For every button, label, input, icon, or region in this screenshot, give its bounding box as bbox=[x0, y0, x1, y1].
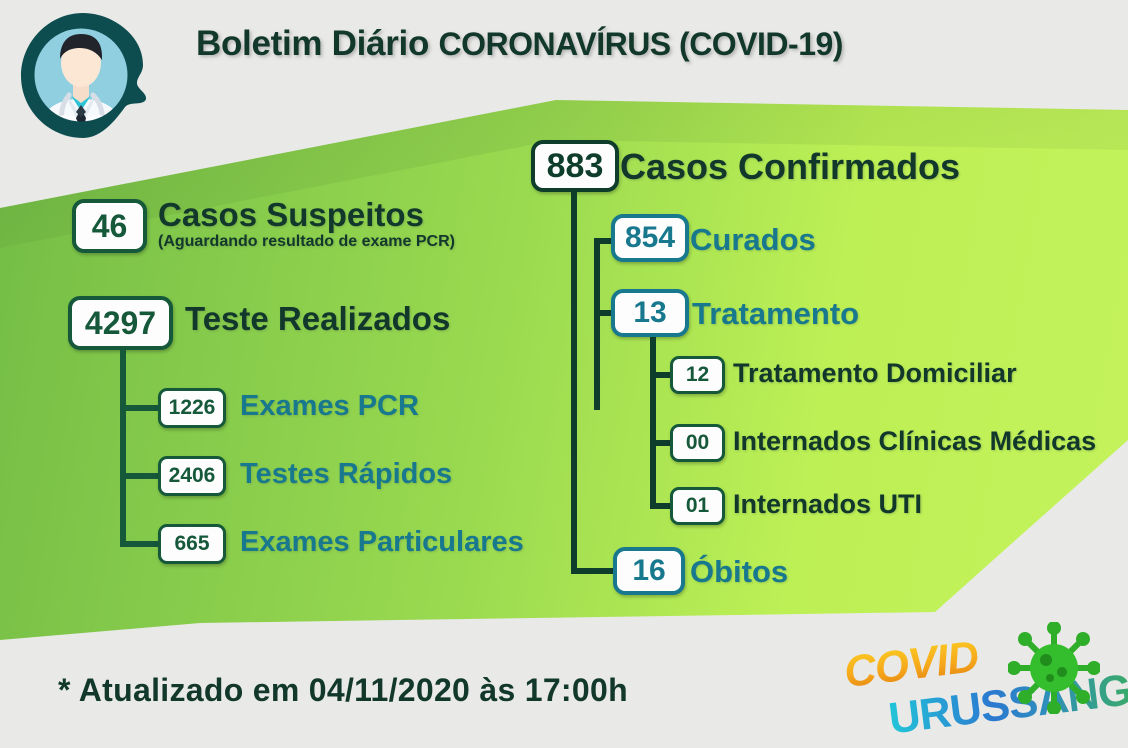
home-treatment-value: 12 bbox=[686, 363, 709, 387]
icu-admitted-value-box: 01 bbox=[670, 487, 725, 525]
tree-line-confirmed-trunk bbox=[571, 192, 577, 574]
tests-done-label: Teste Realizados bbox=[185, 300, 450, 338]
covid-urussanga-logo: COVID URUSSANGA bbox=[840, 620, 1120, 740]
suspected-cases-value: 46 bbox=[92, 208, 128, 245]
confirmed-cases-value-box: 883 bbox=[531, 140, 619, 192]
confirmed-cases-label: Casos Confirmados bbox=[620, 146, 960, 188]
private-exams-value: 665 bbox=[174, 532, 209, 556]
tree-line-home-branch bbox=[650, 372, 672, 378]
tree-line-left-trunk bbox=[120, 350, 126, 547]
tree-line-left-branch-1 bbox=[120, 405, 160, 411]
treatment-label: Tratamento bbox=[692, 296, 859, 332]
suspected-cases-sublabel: (Aguardando resultado de exame PCR) bbox=[158, 233, 455, 251]
clinic-admitted-value: 00 bbox=[686, 431, 709, 455]
private-exams-label: Exames Particulares bbox=[240, 526, 524, 559]
tree-line-icu-branch bbox=[650, 503, 672, 509]
treatment-value-box: 13 bbox=[611, 289, 689, 337]
home-treatment-label: Tratamento Domiciliar bbox=[733, 358, 1017, 389]
suspected-cases-value-box: 46 bbox=[72, 199, 147, 253]
doctor-avatar bbox=[17, 9, 150, 142]
home-treatment-value-box: 12 bbox=[670, 356, 725, 394]
page-title-main: Boletim Diário bbox=[196, 24, 429, 63]
tree-line-inner-trunk bbox=[594, 238, 600, 410]
suspected-cases-label: Casos Suspeitos bbox=[158, 196, 424, 234]
clinic-admitted-label: Internados Clínicas Médicas bbox=[733, 426, 1096, 457]
exams-pcr-value-box: 1226 bbox=[158, 388, 226, 428]
tree-line-clinic-branch bbox=[650, 440, 672, 446]
cured-label: Curados bbox=[690, 222, 816, 258]
tests-done-value: 4297 bbox=[85, 305, 156, 342]
header-bar: Boletim Diário CORONAVÍRUS (COVID-19) bbox=[0, 0, 1128, 120]
deaths-value: 16 bbox=[632, 554, 665, 588]
deaths-value-box: 16 bbox=[613, 547, 685, 595]
clinic-admitted-value-box: 00 bbox=[670, 424, 725, 462]
deaths-label: Óbitos bbox=[690, 554, 788, 590]
tests-done-value-box: 4297 bbox=[68, 296, 173, 350]
tree-line-deaths-branch bbox=[571, 568, 619, 574]
icu-admitted-label: Internados UTI bbox=[733, 489, 922, 520]
exams-pcr-value: 1226 bbox=[169, 396, 216, 420]
virus-icon bbox=[1008, 622, 1100, 714]
tree-line-left-branch-2 bbox=[120, 473, 160, 479]
cured-value: 854 bbox=[625, 221, 675, 255]
updated-timestamp: * Atualizado em 04/11/2020 às 17:00h bbox=[58, 672, 628, 709]
rapid-tests-value-box: 2406 bbox=[158, 456, 226, 496]
private-exams-value-box: 665 bbox=[158, 524, 226, 564]
cured-value-box: 854 bbox=[611, 214, 689, 262]
exams-pcr-label: Exames PCR bbox=[240, 390, 419, 423]
tree-line-treatment-trunk bbox=[650, 337, 656, 509]
rapid-tests-value: 2406 bbox=[169, 464, 216, 488]
treatment-value: 13 bbox=[633, 296, 666, 330]
page-title: Boletim Diário CORONAVÍRUS (COVID-19) bbox=[196, 24, 843, 64]
confirmed-cases-value: 883 bbox=[547, 147, 604, 186]
icu-admitted-value: 01 bbox=[686, 494, 709, 518]
page-title-strong: CORONAVÍRUS (COVID-19) bbox=[439, 26, 843, 62]
rapid-tests-label: Testes Rápidos bbox=[240, 458, 452, 491]
tree-line-left-branch-3 bbox=[120, 541, 160, 547]
